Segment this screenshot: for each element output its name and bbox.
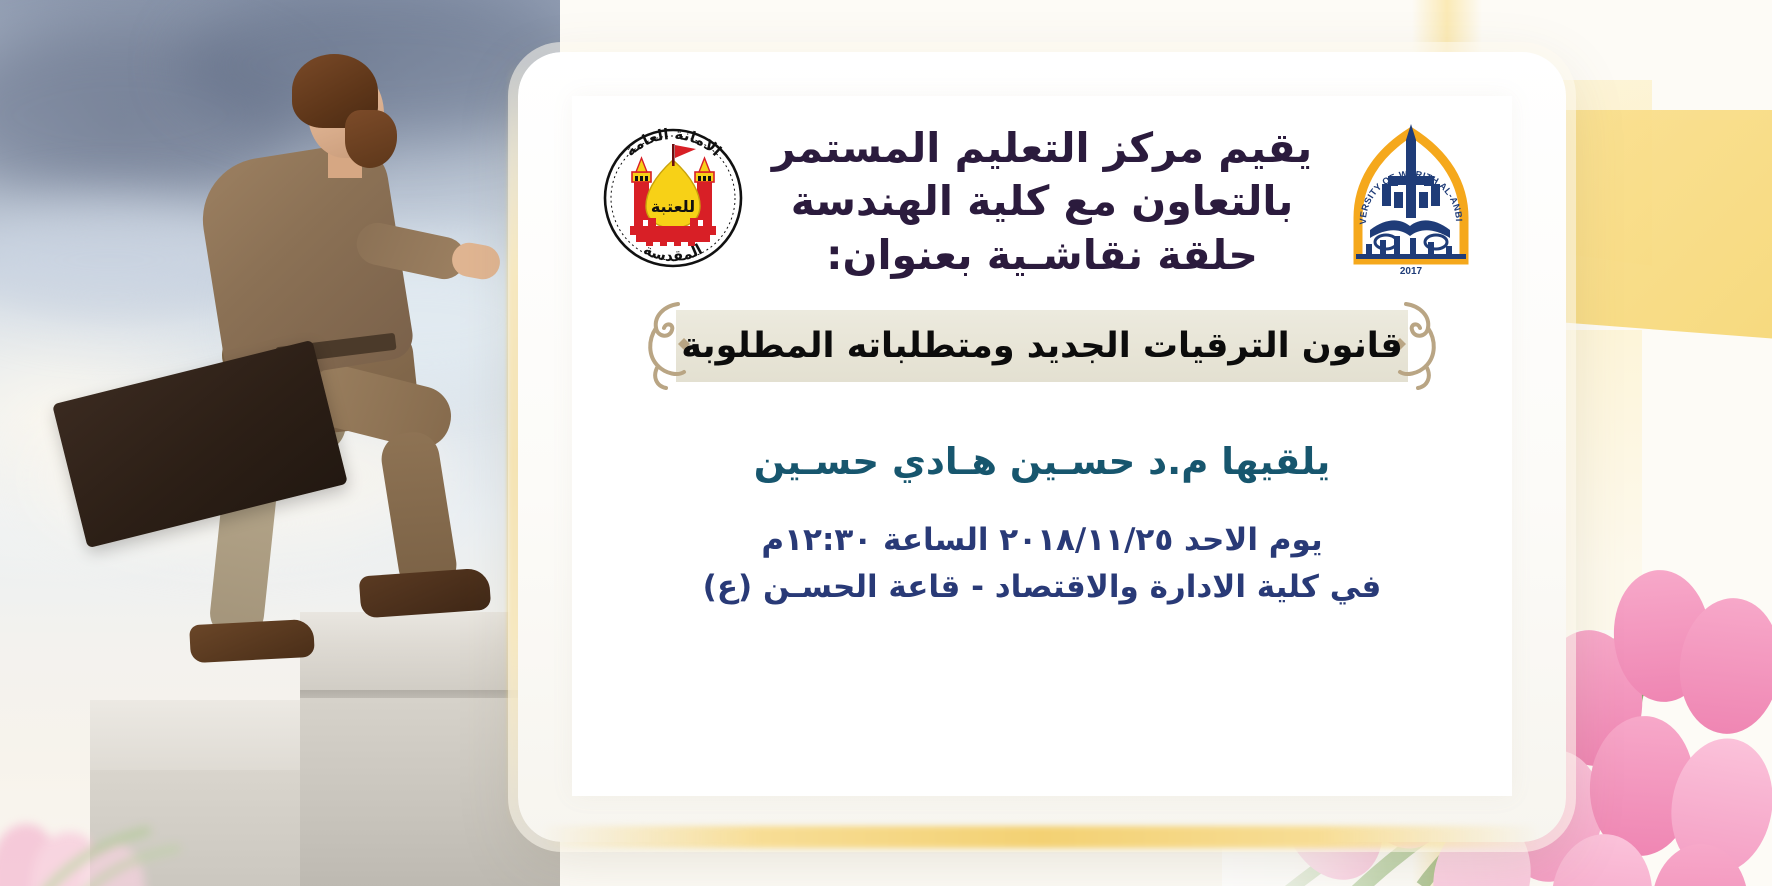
event-date-time: يوم الاحد ٢٠١٨/١١/٢٥ الساعة ١٢:٣٠م <box>703 517 1382 564</box>
event-venue: في كلية الادارة والاقتصاد - قاعة الحسـن … <box>703 564 1382 611</box>
card-bottom-accent <box>540 826 1540 848</box>
businessman-climbing-steps-photo <box>0 0 560 886</box>
businessman-figure <box>60 40 480 730</box>
heading-line-3: حلقة نقاشـية بعنوان: <box>758 229 1326 282</box>
announcement-card: UNIVERSITY OF WARITH AL-ANBIYAA <box>572 96 1512 796</box>
university-logo: UNIVERSITY OF WARITH AL-ANBIYAA <box>1336 118 1486 282</box>
pink-tulips-photo-left <box>0 706 220 886</box>
heading-line-1: يقيم مركز التعليم المستمر <box>758 122 1326 175</box>
back-shoe <box>189 619 315 663</box>
shrine-logo: الامانة العامة المقدسة <box>598 118 748 282</box>
speaker-line: يلقيها م.د حسـين هـادي حسـين <box>754 440 1331 483</box>
event-details: يوم الاحد ٢٠١٨/١١/٢٥ الساعة ١٢:٣٠م في كل… <box>703 517 1382 611</box>
briefcase <box>52 340 348 548</box>
beard <box>345 110 397 168</box>
title-banner-text: قانون الترقيات الجديد ومتطلباته المطلوبة <box>681 326 1403 366</box>
shrine-center-text: للعتبة <box>651 197 695 216</box>
university-year: 2017 <box>1400 266 1423 277</box>
front-shoe <box>359 568 492 619</box>
card-header-row: UNIVERSITY OF WARITH AL-ANBIYAA <box>572 96 1512 282</box>
heading-line-2: بالتعاون مع كلية الهندسة <box>758 175 1326 228</box>
page-title: يقيم مركز التعليم المستمر بالتعاون مع كل… <box>758 118 1326 282</box>
event-poster: UNIVERSITY OF WARITH AL-ANBIYAA <box>0 0 1772 886</box>
title-banner: قانون الترقيات الجديد ومتطلباته المطلوبة <box>642 304 1442 388</box>
